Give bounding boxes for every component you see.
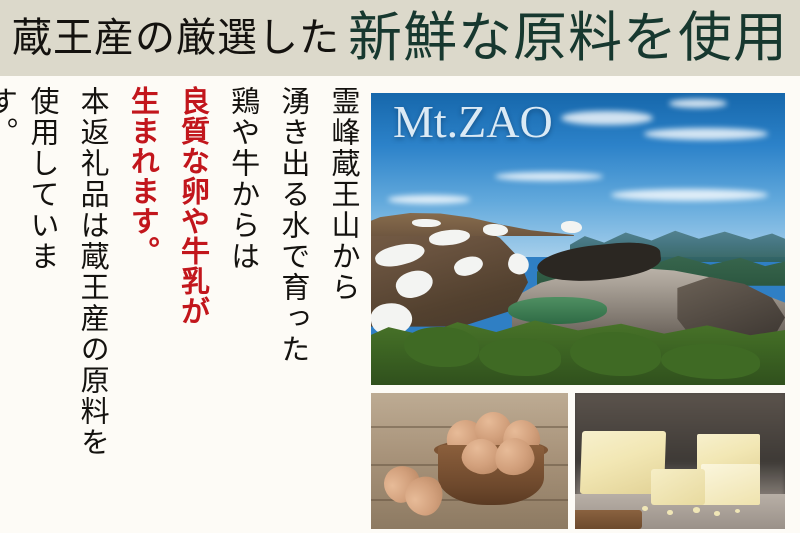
cloud xyxy=(669,99,727,108)
cloud xyxy=(611,189,768,201)
photo-eggs xyxy=(371,393,568,529)
butter-crumb xyxy=(667,510,672,515)
header-plain-text: 蔵王産の厳選した xyxy=(12,18,340,58)
cloud xyxy=(495,172,603,181)
header-emphasis-text: 新鮮な原料を使用 xyxy=(348,11,788,65)
wooden-board xyxy=(575,510,642,529)
cloud xyxy=(561,111,652,126)
photo-caption-mt-zao: Mt.ZAO xyxy=(393,99,553,145)
butter-block xyxy=(651,469,706,504)
butter-crumb xyxy=(693,507,700,512)
snow-patch xyxy=(412,219,441,228)
butter-block xyxy=(701,464,760,505)
header-band: 蔵王産の厳選した 新鮮な原料を使用 xyxy=(0,0,800,76)
text-column-3: 鶏や牛からは xyxy=(221,86,262,361)
text-column-6: 本返礼品は蔵王産の原料を xyxy=(71,86,112,518)
promo-banner: 蔵王産の厳選した 新鮮な原料を使用 霊峰蔵王山から 湧き出る水で育った 鶏や牛か… xyxy=(0,0,800,533)
cloud xyxy=(644,128,768,140)
snow-patch xyxy=(561,221,582,233)
text-column-1: 霊峰蔵王山から xyxy=(322,86,363,354)
butter-crumb xyxy=(714,511,720,516)
text-column-4-highlight: 良質な卵や牛乳が xyxy=(171,86,212,518)
photo-mount-zao: Mt.ZAO xyxy=(371,93,785,385)
butter-crumb xyxy=(735,509,740,513)
text-column-5-highlight: 生まれます。 xyxy=(121,86,162,326)
cloud xyxy=(388,195,471,204)
crater-lake xyxy=(508,297,607,323)
photo-butter xyxy=(575,393,785,529)
snow-patch xyxy=(483,224,508,236)
vertical-text-block: 霊峰蔵王山から 湧き出る水で育った 鶏や牛からは 良質な卵や牛乳が 生まれます。… xyxy=(18,86,363,526)
text-column-2: 湧き出る水で育った xyxy=(272,86,313,371)
text-column-7: 使用しています。 xyxy=(0,86,62,326)
